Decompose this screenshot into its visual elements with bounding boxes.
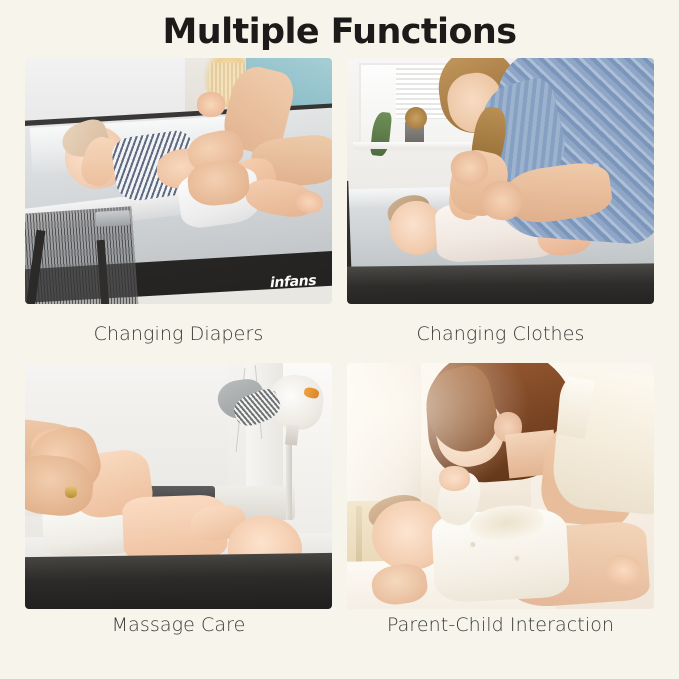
caption-cell-parent-child-interaction: Parent-Child Interaction <box>347 609 654 640</box>
page-title: Multiple Functions <box>0 11 679 53</box>
changing-pad-base <box>25 553 332 609</box>
caption-cell-changing-diapers: Changing Diapers <box>25 304 332 363</box>
caption-parent-child-interaction: Parent-Child Interaction <box>387 614 614 636</box>
caption-massage-care: Massage Care <box>112 614 246 636</box>
feature-panel-changing-diapers[interactable]: infans <box>25 58 332 304</box>
window-sill <box>353 142 488 149</box>
feature-panel-changing-clothes[interactable] <box>347 58 654 304</box>
brand-logo: infans <box>270 273 317 291</box>
feature-panel-massage-care[interactable] <box>25 363 332 609</box>
plant-flowers <box>405 107 426 129</box>
baby-fist <box>197 92 225 117</box>
feature-panel-parent-child-interaction[interactable] <box>347 363 654 609</box>
infographic-page: Multiple Functions <box>0 0 679 679</box>
caption-changing-clothes: Changing Clothes <box>416 323 584 345</box>
caption-changing-diapers: Changing Diapers <box>94 323 264 345</box>
bird-leg <box>285 424 299 445</box>
caption-cell-changing-clothes: Changing Clothes <box>347 304 654 363</box>
changing-pad-base <box>347 263 654 304</box>
wedding-ring <box>65 486 77 498</box>
photo-massage-care <box>25 363 332 609</box>
caption-cell-massage-care: Massage Care <box>25 609 332 640</box>
feature-grid: infans <box>25 58 654 640</box>
photo-parent-child-interaction <box>347 363 654 609</box>
photo-changing-clothes <box>347 58 654 304</box>
window-light-glow <box>347 363 531 511</box>
photo-changing-diapers: infans <box>25 58 332 304</box>
table-clip <box>95 210 129 226</box>
crib-bar <box>356 506 362 570</box>
